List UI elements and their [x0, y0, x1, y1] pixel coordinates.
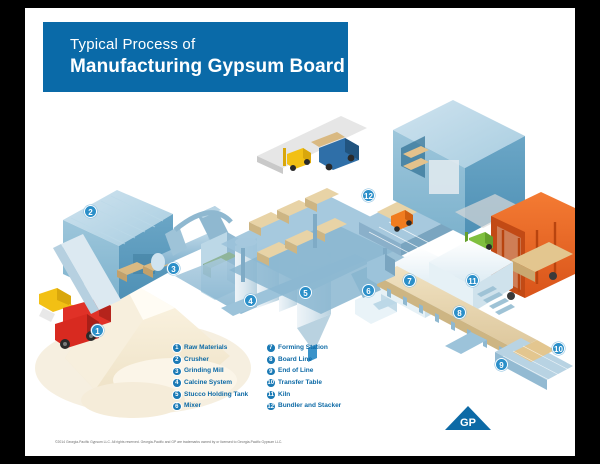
legend-item-9[interactable]: 9 End of Line — [266, 366, 386, 378]
legend-number: 1 — [172, 343, 182, 353]
legend: 1 Raw Materials 2 Crusher 3 Grinding Mil… — [172, 343, 432, 419]
legend-item-10[interactable]: 10 Transfer Table — [266, 378, 386, 390]
callout-7-forming-station[interactable]: 7 — [403, 274, 416, 287]
legend-item-8[interactable]: 8 Board Line — [266, 355, 386, 367]
legend-number: 11 — [266, 390, 276, 400]
crusher-building — [53, 190, 173, 314]
legend-number: 3 — [172, 367, 182, 377]
truck-loading-area — [257, 116, 367, 174]
callout-10-transfer-table[interactable]: 10 — [552, 342, 565, 355]
legend-label: End of Line — [278, 367, 313, 374]
legend-item-7[interactable]: 7 Forming Station — [266, 343, 386, 355]
callout-8-board-line[interactable]: 8 — [453, 306, 466, 319]
legend-number: 6 — [172, 402, 182, 412]
gp-logo: GP — [445, 406, 491, 440]
legend-item-11[interactable]: 11 Kiln — [266, 390, 386, 402]
legend-label: Crusher — [184, 356, 209, 363]
callout-2-crusher[interactable]: 2 — [84, 205, 97, 218]
poster-page: Typical Process of Manufacturing Gypsum … — [25, 8, 575, 456]
callout-5-stucco-tank[interactable]: 5 — [299, 286, 312, 299]
copyright-notice: ©2014 Georgia-Pacific Gypsum LLC. All ri… — [55, 440, 385, 444]
legend-number: 9 — [266, 367, 276, 377]
legend-label: Forming Station — [278, 344, 328, 351]
legend-label: Bundler and Stacker — [278, 402, 341, 409]
callout-11-kiln[interactable]: 11 — [466, 274, 479, 287]
callout-1-raw-materials[interactable]: 1 — [91, 324, 104, 337]
legend-label: Transfer Table — [278, 379, 322, 386]
legend-number: 5 — [172, 390, 182, 400]
legend-label: Stucco Holding Tank — [184, 391, 248, 398]
legend-label: Raw Materials — [184, 344, 227, 351]
legend-number: 12 — [266, 402, 276, 412]
callout-6-mixer[interactable]: 6 — [362, 284, 375, 297]
legend-item-12[interactable]: 12 Bundler and Stacker — [266, 401, 386, 413]
legend-label: Board Line — [278, 356, 312, 363]
legend-number: 4 — [172, 378, 182, 388]
callout-4-calcine-system[interactable]: 4 — [244, 294, 257, 307]
legend-number: 7 — [266, 343, 276, 353]
legend-label: Grinding Mill — [184, 367, 224, 374]
legend-number: 2 — [172, 355, 182, 365]
legend-number: 10 — [266, 378, 276, 388]
legend-column-right: 7 Forming Station 8 Board Line 9 End of … — [266, 343, 386, 413]
callout-12-bundler-stacker[interactable]: 12 — [362, 189, 375, 202]
callout-9-end-of-line[interactable]: 9 — [495, 358, 508, 371]
gp-logo-text: GP — [445, 417, 491, 429]
legend-label: Calcine System — [184, 379, 232, 386]
legend-label: Kiln — [278, 391, 290, 398]
legend-number: 8 — [266, 355, 276, 365]
callout-3-grinding-mill[interactable]: 3 — [167, 262, 180, 275]
legend-label: Mixer — [184, 402, 201, 409]
